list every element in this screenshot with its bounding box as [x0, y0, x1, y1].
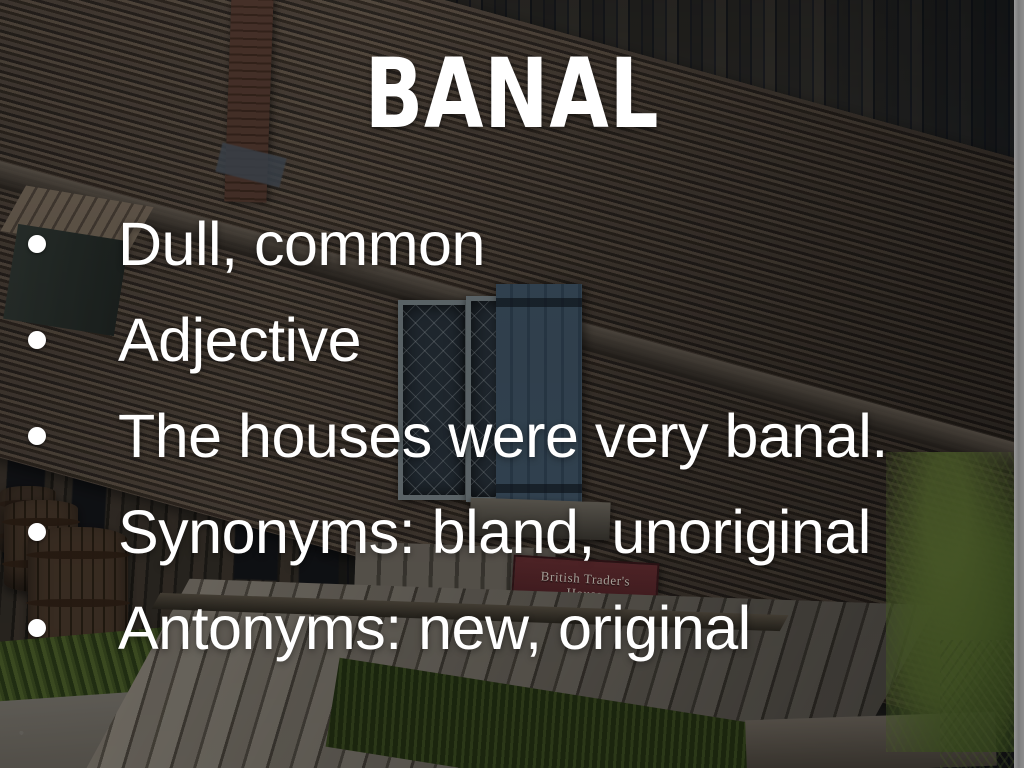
list-item: Synonyms: bland, unoriginal — [28, 484, 1010, 580]
bullet-dot-icon — [28, 427, 46, 445]
list-item: Antonyms: new, original — [28, 580, 1010, 676]
slide-title: BANAL — [102, 46, 921, 142]
bullet-dot-icon — [28, 619, 46, 637]
bullet-text: Dull, common — [118, 214, 485, 275]
presentation-slide: British Trader's House BANAL — [0, 0, 1024, 768]
bullet-text: The houses were very banal. — [118, 406, 888, 467]
right-edge-strip — [1014, 0, 1024, 768]
bullet-text: Adjective — [118, 310, 361, 371]
bullet-list: Dull, common Adjective The houses were v… — [28, 196, 1010, 676]
list-item: The houses were very banal. — [28, 388, 1010, 484]
list-item: Adjective — [28, 292, 1010, 388]
bullet-dot-icon — [28, 523, 46, 541]
bullet-text: Antonyms: new, original — [118, 598, 751, 659]
bullet-dot-icon — [28, 331, 46, 349]
bullet-text: Synonyms: bland, unoriginal — [118, 502, 871, 563]
slide-content: BANAL Dull, common Adjective The houses … — [0, 0, 1024, 768]
list-item: Dull, common — [28, 196, 1010, 292]
bullet-dot-icon — [28, 235, 46, 253]
